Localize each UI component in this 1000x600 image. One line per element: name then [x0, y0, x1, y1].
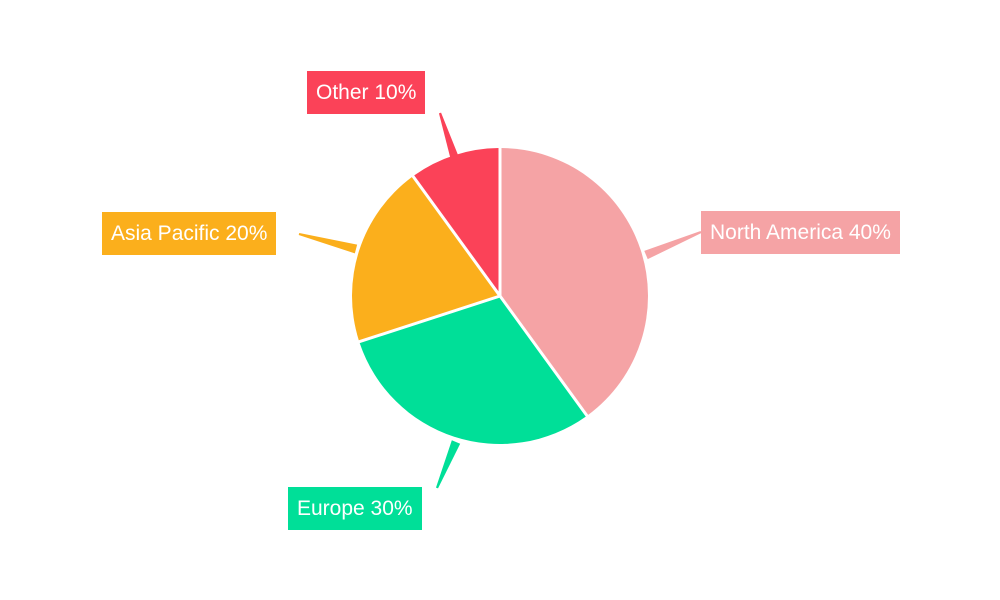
pie-chart-figure: North America 40% Europe 30% Asia Pacifi…: [0, 0, 1000, 600]
pie-chart-canvas: [0, 0, 1000, 600]
leader-line-asia-pacific: [299, 233, 357, 253]
pie-label-other: Other 10%: [307, 71, 425, 114]
leader-line-europe: [436, 440, 460, 488]
pie-label-europe: Europe 30%: [288, 487, 422, 530]
pie-label-asia-pacific: Asia Pacific 20%: [102, 212, 276, 255]
pie-label-north-america: North America 40%: [701, 211, 900, 254]
leader-line-north-america: [644, 231, 701, 259]
pie-slices: [352, 148, 648, 444]
